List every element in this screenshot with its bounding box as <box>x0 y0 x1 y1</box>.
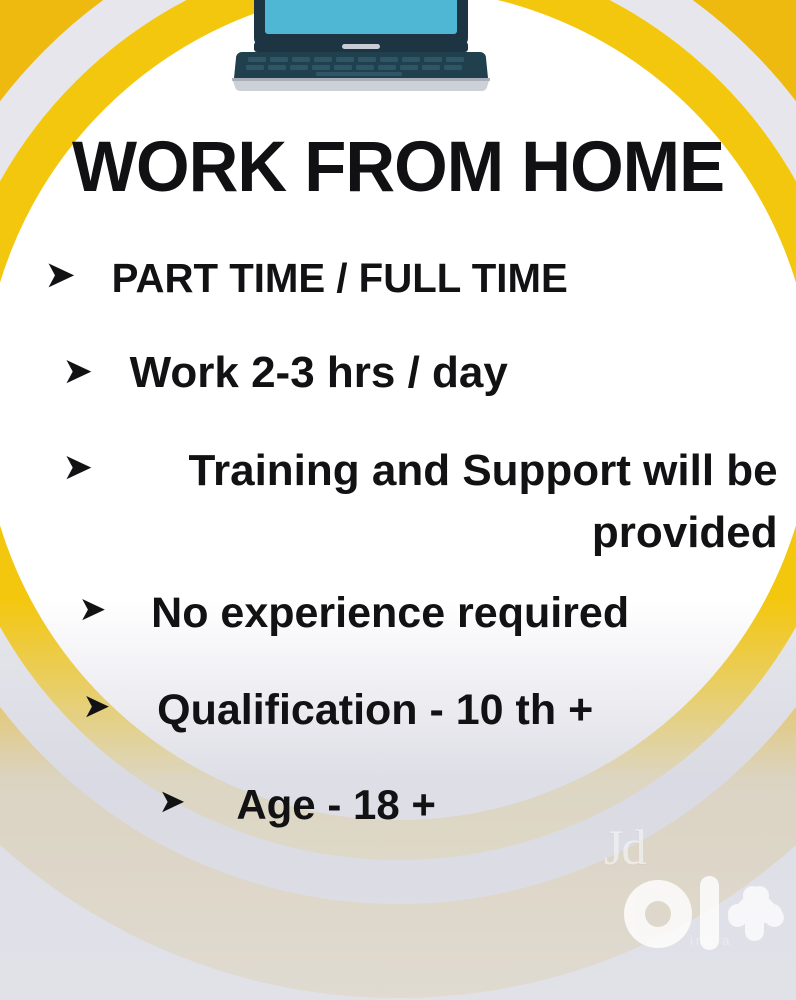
olx-letter-x <box>724 882 788 941</box>
olx-watermark-sub: india <box>690 933 732 948</box>
list-item-label: Work 2-3 hrs / day <box>130 345 508 401</box>
olx-letter-o <box>624 880 692 948</box>
list-item-label: Age - 18 + <box>236 778 436 832</box>
arrow-bullet-icon: ➤ <box>80 585 105 625</box>
arrow-bullet-icon: ➤ <box>160 778 184 817</box>
list-item: ➤ Age - 18 + <box>160 778 436 832</box>
arrow-bullet-icon: ➤ <box>64 440 92 483</box>
list-item: ➤ Training and Support will be provided <box>64 440 792 564</box>
list-item-label: PART TIME / FULL TIME <box>111 252 567 304</box>
list-item: ➤ Work 2-3 hrs / day <box>64 345 508 401</box>
list-item: ➤ Qualification - 10 th + <box>84 682 593 738</box>
arrow-bullet-icon: ➤ <box>64 345 92 387</box>
list-item: ➤ PART TIME / FULL TIME <box>46 252 572 304</box>
arrow-bullet-icon: ➤ <box>46 252 75 292</box>
work-from-home-poster: WORK FROM HOME ➤ PART TIME / FULL TIME ➤… <box>0 0 796 1000</box>
justdial-watermark: Jd <box>604 822 644 872</box>
page-title: WORK FROM HOME <box>12 126 784 210</box>
list-item: ➤ No experience required <box>80 585 629 641</box>
list-item-label: Training and Support will be provided <box>130 440 778 564</box>
olx-watermark <box>614 870 790 962</box>
list-item-label: Qualification - 10 th + <box>157 682 593 738</box>
list-item-label: No experience required <box>151 585 629 641</box>
arrow-bullet-icon: ➤ <box>84 682 109 722</box>
poster-content: WORK FROM HOME ➤ PART TIME / FULL TIME ➤… <box>0 0 796 1000</box>
